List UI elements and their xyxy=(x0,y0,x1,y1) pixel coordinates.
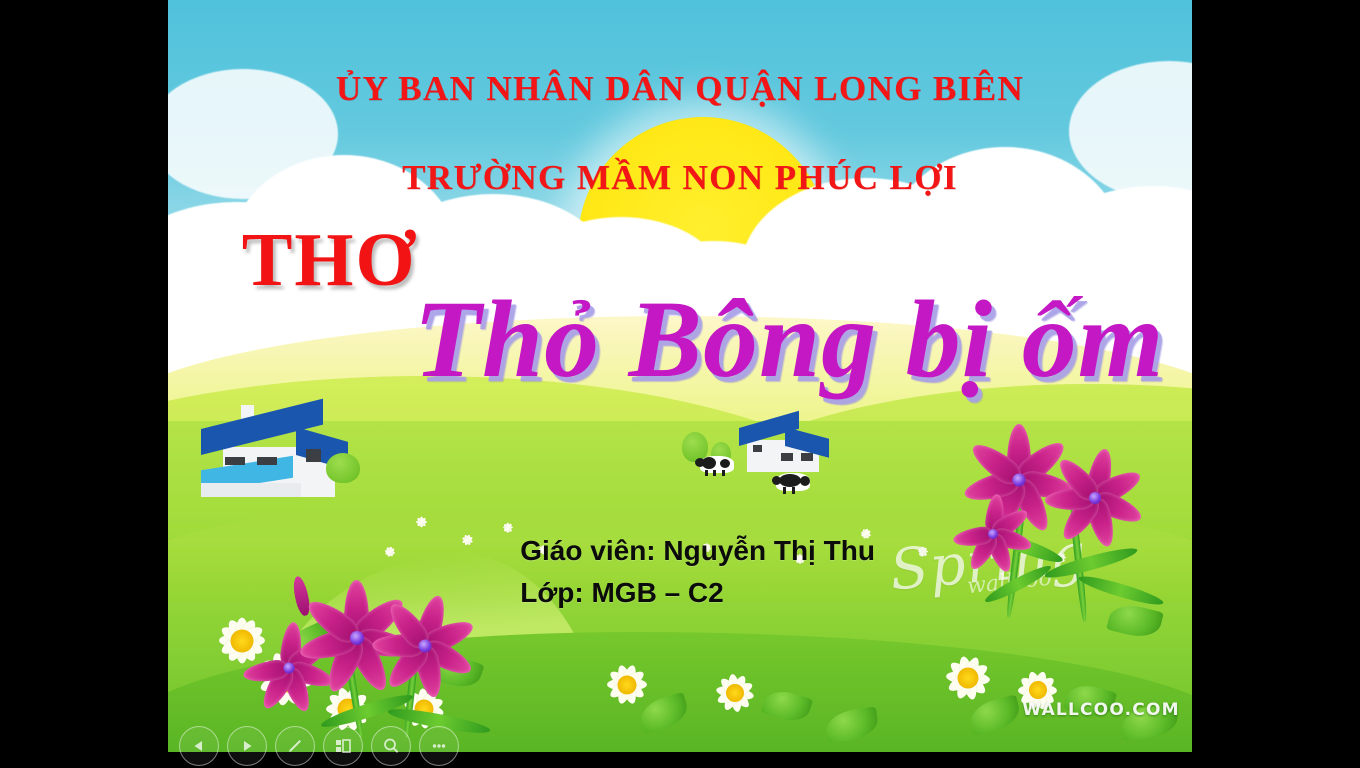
slideshow-toolbar xyxy=(175,724,459,768)
more-options-button[interactable] xyxy=(419,726,459,766)
daisy-small xyxy=(501,520,515,534)
triangle-right-icon xyxy=(239,738,255,754)
zoom-button[interactable] xyxy=(371,726,411,766)
slide-canvas[interactable]: Spring wallcoo xyxy=(168,0,1192,752)
daisy-small xyxy=(460,532,476,548)
pen-tool-button[interactable] xyxy=(275,726,315,766)
poem-title: Thỏ Bông bị ốm xyxy=(414,282,1165,396)
organization-header: ỦY BAN NHÂN DÂN QUẬN LONG BIÊN TRƯỜNG MẦ… xyxy=(168,23,1192,243)
slide-overview-button[interactable] xyxy=(323,726,363,766)
ellipsis-icon xyxy=(429,736,449,756)
genre-label: THƠ xyxy=(242,222,417,298)
triangle-left-icon xyxy=(191,738,207,754)
credits-block: Giáo viên: Nguyễn Thị Thu Lớp: MGB – C2 xyxy=(520,530,875,613)
lily-cluster-right xyxy=(997,436,1192,626)
daisy-cluster-bottom-right xyxy=(926,624,1192,752)
daisy-large xyxy=(708,666,762,720)
teacher-name: Giáo viên: Nguyễn Thị Thu xyxy=(520,530,875,571)
daisy-small xyxy=(414,514,430,530)
magnifier-icon xyxy=(381,736,401,756)
house-small xyxy=(739,420,829,475)
daisy-small xyxy=(383,545,397,559)
class-name: Lớp: MGB – C2 xyxy=(520,572,875,613)
cow-right xyxy=(776,473,810,491)
bush-left xyxy=(326,453,360,483)
previous-slide-button[interactable] xyxy=(179,726,219,766)
grid-slides-icon xyxy=(333,736,353,756)
daisy-small xyxy=(916,544,930,558)
organization-line-2: TRƯỜNG MẦM NON PHÚC LỢI xyxy=(168,156,1192,200)
next-slide-button[interactable] xyxy=(227,726,267,766)
cow-left xyxy=(700,456,734,473)
daisy-cluster-bottom-center xyxy=(588,632,928,752)
pen-icon xyxy=(285,736,305,756)
presentation-stage: Spring wallcoo xyxy=(0,0,1360,768)
organization-line-1: ỦY BAN NHÂN DÂN QUẬN LONG BIÊN xyxy=(168,67,1192,111)
